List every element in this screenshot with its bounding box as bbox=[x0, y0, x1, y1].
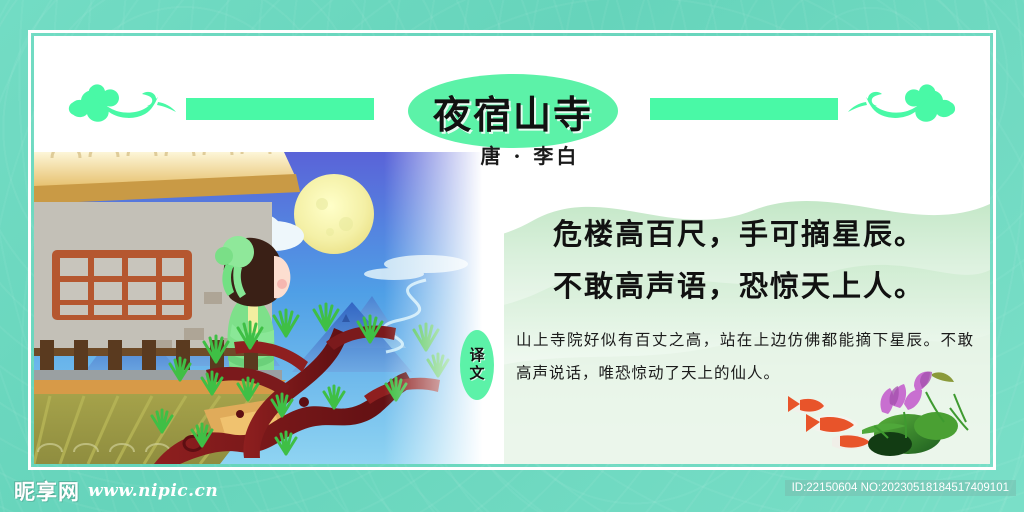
title-bar-left bbox=[186, 98, 374, 120]
site-url[interactable]: www.nipic.cn bbox=[88, 481, 218, 501]
poster-canvas: 夜宿山寺 唐 · 李白 危楼高百尺，手可摘星辰。 不敢高声语，恐惊天上人。 译文… bbox=[0, 0, 1024, 512]
poem-line-1: 危楼高百尺，手可摘星辰。 bbox=[504, 208, 974, 260]
translation-badge: 译文 bbox=[460, 330, 494, 400]
poster-content-area: 夜宿山寺 唐 · 李白 危楼高百尺，手可摘星辰。 不敢高声语，恐惊天上人。 译文… bbox=[34, 36, 990, 464]
image-id-tag: ID:22150604 NO:20230518184517409101 bbox=[785, 480, 1016, 496]
site-logo-text: 昵享网 bbox=[14, 476, 80, 506]
site-logo[interactable]: 昵享网 www.nipic.cn bbox=[14, 476, 218, 506]
title-badge: 夜宿山寺 bbox=[408, 74, 618, 148]
poem-author: 唐 · 李白 bbox=[430, 140, 630, 169]
translation-badge-label: 译文 bbox=[467, 347, 488, 383]
poem-line-2: 不敢高声语，恐惊天上人。 bbox=[504, 260, 974, 312]
lotus-koi-icon bbox=[786, 368, 976, 460]
footer: 昵享网 www.nipic.cn ID:22150604 NO:20230518… bbox=[0, 470, 1024, 512]
title-bar-right bbox=[650, 98, 838, 120]
poster-inner-panel: 夜宿山寺 唐 · 李白 危楼高百尺，手可摘星辰。 不敢高声语，恐惊天上人。 译文… bbox=[34, 36, 990, 464]
poem-body: 危楼高百尺，手可摘星辰。 不敢高声语，恐惊天上人。 bbox=[504, 208, 974, 312]
illustration bbox=[34, 152, 504, 464]
page-title: 夜宿山寺 bbox=[433, 84, 593, 139]
title-row: 夜宿山寺 bbox=[34, 62, 990, 152]
